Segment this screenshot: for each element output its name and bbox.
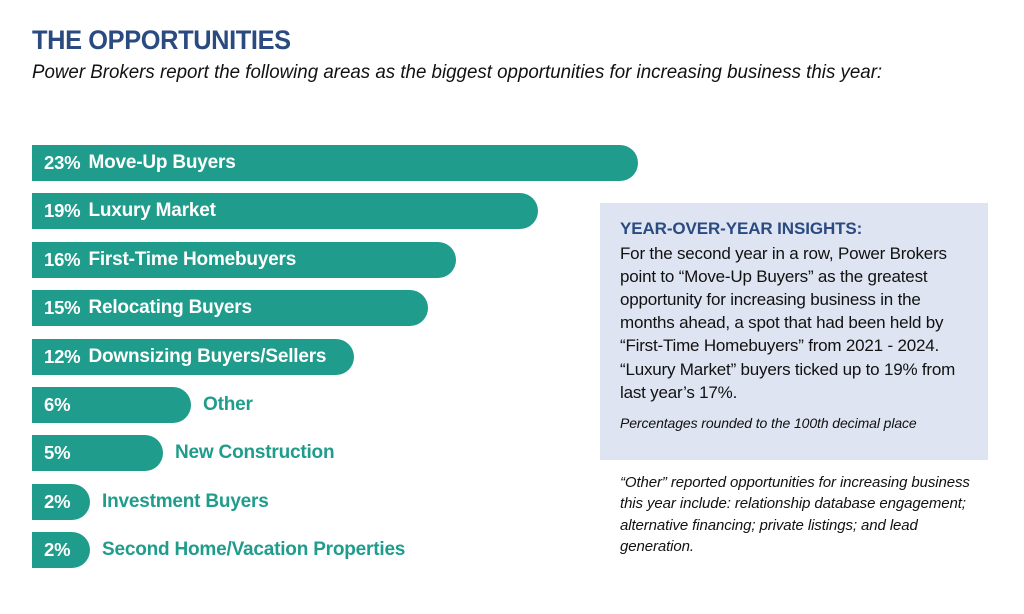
insights-body: For the second year in a row, Power Brok… xyxy=(620,242,968,404)
bar-category-label: New Construction xyxy=(175,442,334,464)
bar-content: 23%Move-Up Buyers xyxy=(32,145,236,181)
insights-note: Percentages rounded to the 100th decimal… xyxy=(620,414,968,432)
bar-category-label: Other xyxy=(203,394,253,416)
bar-content: 2%Investment Buyers xyxy=(32,484,269,520)
page-subtitle: Power Brokers report the following areas… xyxy=(32,60,906,86)
page-title: THE OPPORTUNITIES xyxy=(32,26,916,54)
other-footnote: “Other” reported opportunities for incre… xyxy=(620,472,992,557)
bar-content: 6%Other xyxy=(32,387,253,423)
bar-category-label: Relocating Buyers xyxy=(88,297,251,319)
bar-content: 19%Luxury Market xyxy=(32,193,216,229)
bar-value-label: 12% xyxy=(32,346,80,368)
bar-value-label: 15% xyxy=(32,297,80,319)
bar-row: 23%Move-Up Buyers xyxy=(32,145,992,181)
bar-category-label: Downsizing Buyers/Sellers xyxy=(88,346,326,368)
bar-value-label: 16% xyxy=(32,249,80,271)
bar-value-label: 19% xyxy=(32,200,80,222)
bar-category-label: Move-Up Buyers xyxy=(88,152,235,174)
bar-content: 2%Second Home/Vacation Properties xyxy=(32,532,405,568)
bar-content: 16%First-Time Homebuyers xyxy=(32,242,296,278)
bar-value-label: 2% xyxy=(32,539,74,561)
bar-category-label: Investment Buyers xyxy=(102,491,269,513)
bar-content: 12%Downsizing Buyers/Sellers xyxy=(32,339,326,375)
bar-category-label: First-Time Homebuyers xyxy=(88,249,296,271)
bar-category-label: Second Home/Vacation Properties xyxy=(102,539,405,561)
chart-header: THE OPPORTUNITIES Power Brokers report t… xyxy=(32,26,972,86)
bar-value-label: 23% xyxy=(32,152,80,174)
bar-value-label: 5% xyxy=(32,442,74,464)
bar-content: 15%Relocating Buyers xyxy=(32,290,252,326)
year-over-year-insights-panel: YEAR-OVER-YEAR INSIGHTS: For the second … xyxy=(600,203,988,460)
insights-heading: YEAR-OVER-YEAR INSIGHTS: xyxy=(620,219,968,239)
bar-value-label: 2% xyxy=(32,491,74,513)
bar-value-label: 6% xyxy=(32,394,74,416)
bar-content: 5%New Construction xyxy=(32,435,334,471)
bar-category-label: Luxury Market xyxy=(88,200,215,222)
